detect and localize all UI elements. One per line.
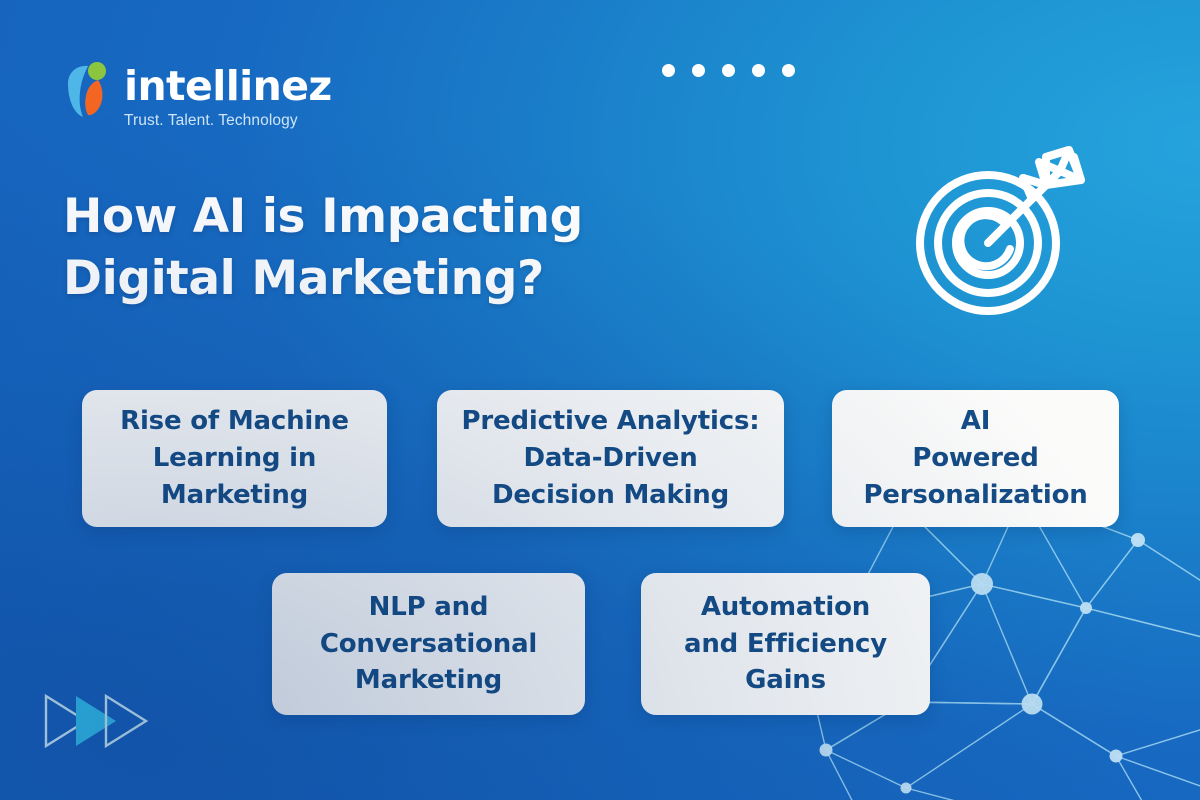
triple-chevron-decoration [42,690,154,752]
intellinez-leaf-logo-icon [62,60,118,122]
card-nlp-conversational[interactable]: NLP and Conversational Marketing [272,573,585,715]
dot-5 [782,64,795,77]
page-title-line-1: How AI is Impacting [63,186,723,248]
card-label: NLP and Conversational Marketing [320,589,537,700]
dot-4 [752,64,765,77]
brand-wordmark: intellinez [124,66,332,107]
card-label: Rise of Machine Learning in Marketing [120,403,349,514]
card-label: Predictive Analytics: Data-Driven Decisi… [462,403,760,514]
page-title-line-2: Digital Marketing? [63,248,723,310]
card-label: AI Powered Personalization [863,403,1087,514]
chevron-filled-2 [76,696,116,746]
card-automation-efficiency[interactable]: Automation and Efficiency Gains [641,573,930,715]
brand-tagline: Trust. Talent. Technology [124,112,332,130]
dot-2 [692,64,705,77]
card-label: Automation and Efficiency Gains [684,589,887,700]
dot-1 [662,64,675,77]
page-title: How AI is Impacting Digital Marketing? [63,186,723,310]
card-ai-powered-personalization[interactable]: AI Powered Personalization [832,390,1119,527]
card-rise-of-machine-learning[interactable]: Rise of Machine Learning in Marketing [82,390,387,527]
target-dart-icon [910,136,1100,321]
brand-logo[interactable]: intellinez Trust. Talent. Technology [62,58,332,130]
dot-row-decoration [662,64,795,77]
infographic-poster: intellinez Trust. Talent. Technology How… [0,0,1200,800]
dot-3 [722,64,735,77]
card-predictive-analytics[interactable]: Predictive Analytics: Data-Driven Decisi… [437,390,784,527]
